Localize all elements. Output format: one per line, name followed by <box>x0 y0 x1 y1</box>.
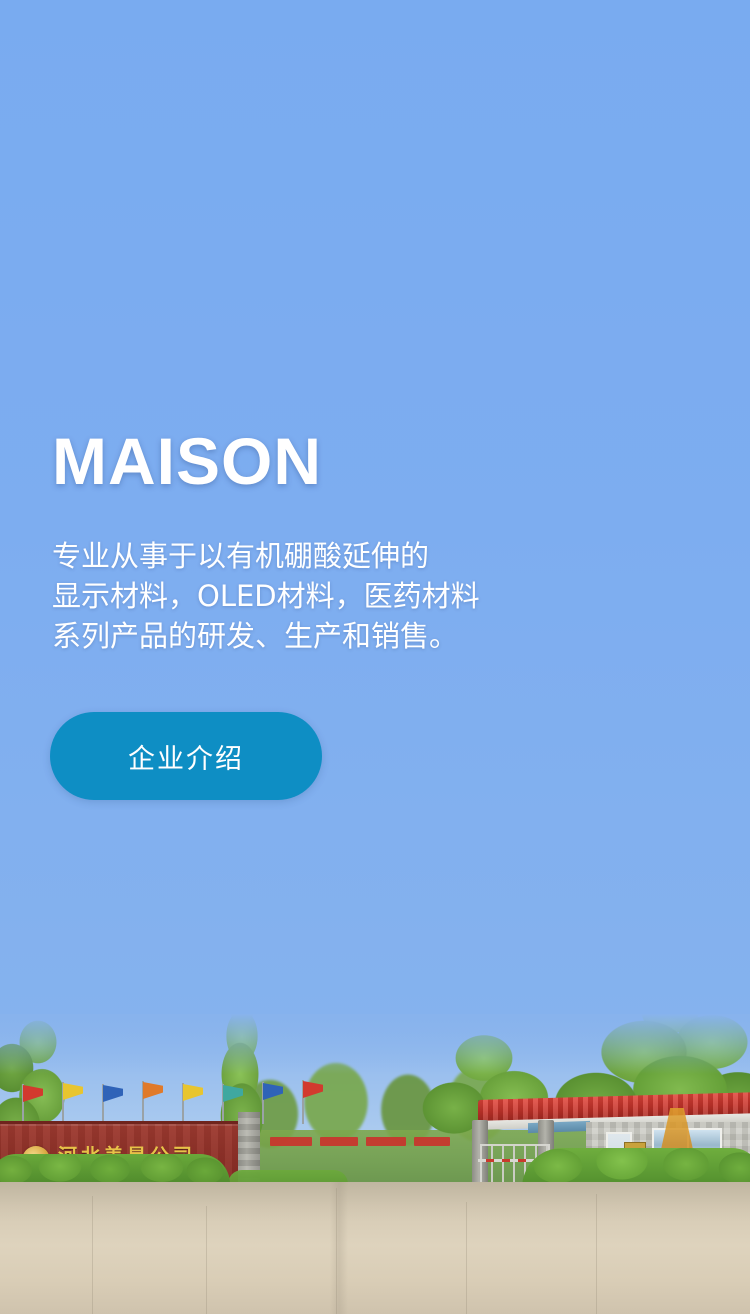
distant-banner-3 <box>366 1137 406 1146</box>
pavement-seam-3 <box>336 1188 337 1314</box>
pavement-seam-1 <box>92 1196 93 1314</box>
distant-banner-2 <box>320 1137 358 1146</box>
photo-sky-blend <box>0 1014 750 1074</box>
hero-subtitle-line-1: 专业从事于以有机硼酸延伸的 <box>52 536 480 576</box>
page-title: MAISON <box>52 428 322 494</box>
hero-subtitle-line-3: 系列产品的研发、生产和销售。 <box>52 616 480 656</box>
company-intro-button[interactable]: 企业介绍 <box>50 712 322 800</box>
hero-subtitle-line-2: 显示材料，OLED材料，医药材料 <box>52 576 480 616</box>
hero-banner: 河北美星公司 MAISON CHEMICAL MAISON 专业从事于以有机硼酸… <box>0 0 750 1314</box>
driveway-pavement <box>0 1182 750 1314</box>
factory-gate-photo: 河北美星公司 MAISON CHEMICAL <box>0 1014 750 1314</box>
hero-subtitle: 专业从事于以有机硼酸延伸的 显示材料，OLED材料，医药材料 系列产品的研发、生… <box>52 536 480 656</box>
pavement-seam-2 <box>206 1206 207 1314</box>
pavement-seam-4 <box>466 1202 467 1314</box>
pavement-seam-5 <box>596 1194 597 1314</box>
